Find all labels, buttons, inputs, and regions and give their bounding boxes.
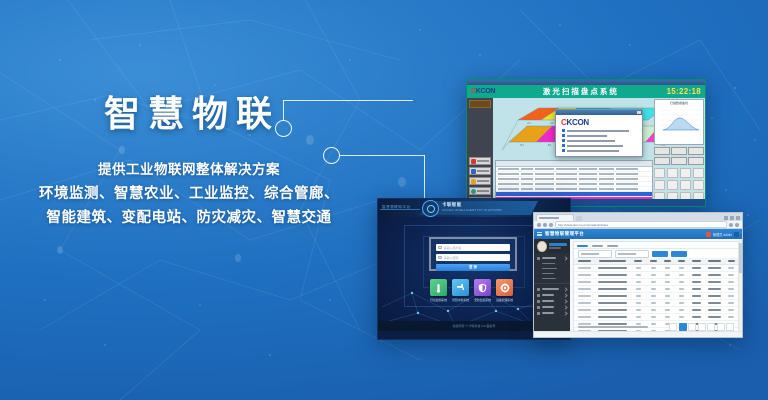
table-row[interactable] bbox=[574, 265, 738, 272]
url-input[interactable]: http://www.ckcon-iot.com/admin/index bbox=[555, 221, 727, 228]
avatar bbox=[537, 241, 547, 252]
chevron-down-icon bbox=[563, 311, 567, 315]
sidebar-subitem-device-status[interactable] bbox=[534, 276, 570, 281]
bullet-icon bbox=[562, 139, 565, 142]
scan-icon bbox=[471, 159, 476, 164]
url-text: http://www.ckcon-iot.com/admin/index bbox=[558, 223, 608, 227]
user-icon bbox=[537, 300, 540, 303]
callout-ring-upper bbox=[275, 120, 292, 137]
table-row[interactable] bbox=[574, 293, 738, 300]
grid-icon-2[interactable] bbox=[667, 168, 678, 178]
setting-icon bbox=[471, 179, 476, 184]
tile-water[interactable]: 智慧水务系统 bbox=[452, 279, 469, 302]
login-badge bbox=[422, 200, 439, 217]
pagination-bar[interactable] bbox=[574, 323, 738, 330]
minimize-icon[interactable] bbox=[724, 216, 728, 220]
back-icon[interactable] bbox=[537, 223, 541, 227]
callout-line-upper-horizontal bbox=[283, 100, 413, 101]
scan-app-sidebar-button-setting[interactable] bbox=[469, 177, 491, 185]
username-field[interactable]: 请输入用户名 bbox=[436, 244, 510, 251]
table-row[interactable] bbox=[574, 300, 738, 307]
svg-text:B1: B1 bbox=[520, 143, 524, 147]
tile-water-square[interactable] bbox=[452, 279, 469, 296]
chevron-down-icon bbox=[563, 256, 567, 260]
browser-viewport: 智慧物联管理平台 管理员 admin bbox=[534, 229, 742, 335]
login-form[interactable]: 请输入用户名 请输入密码 登 录 bbox=[429, 237, 517, 271]
bullet-icon bbox=[562, 129, 565, 132]
user-icon bbox=[438, 246, 442, 250]
tile-device-caption: 设备管理系统 bbox=[496, 298, 513, 302]
callout-line-lower-horizontal bbox=[340, 155, 425, 156]
control-button[interactable] bbox=[654, 157, 670, 165]
lock-icon bbox=[438, 256, 442, 260]
pagination-info bbox=[578, 326, 648, 328]
date-input[interactable] bbox=[615, 250, 649, 258]
password-field[interactable]: 请输入密码 bbox=[436, 254, 510, 261]
page-next[interactable] bbox=[726, 323, 734, 331]
tile-device[interactable]: 设备管理系统 bbox=[496, 279, 513, 302]
app-content bbox=[570, 229, 742, 335]
grid-icon-7[interactable] bbox=[680, 180, 691, 190]
page-prev[interactable] bbox=[669, 323, 677, 331]
tile-environment[interactable]: 环境监测系统 bbox=[430, 279, 447, 302]
browser-tab-active[interactable] bbox=[536, 214, 574, 221]
about-dialog-logo: CKCON bbox=[556, 115, 642, 129]
app-header: 智慧物联管理平台 管理员 admin bbox=[534, 229, 742, 239]
grid-icon-1[interactable] bbox=[654, 168, 665, 178]
scan-app-chart: 扫描数据曲线 bbox=[654, 99, 704, 145]
shield-icon bbox=[478, 283, 487, 293]
bookmark-icon[interactable] bbox=[729, 223, 733, 227]
hero-copy: 智慧物联 提供工业物联网整体解决方案 环境监测、智慧农业、工业监控、综合管廊、 … bbox=[0, 96, 378, 230]
reset-button[interactable] bbox=[671, 251, 687, 257]
gear-icon bbox=[500, 283, 510, 293]
scan-app-sidebar-spacer bbox=[467, 108, 493, 156]
tile-security-square[interactable] bbox=[474, 279, 491, 296]
scan-app-sidebar[interactable] bbox=[467, 98, 493, 206]
device-icon bbox=[537, 257, 540, 260]
scan-app-control-panel[interactable]: 扫描数据曲线 bbox=[654, 99, 704, 205]
banner-stage: 智慧物联 提供工业物联网整体解决方案 环境监测、智慧农业、工业监控、综合管廊、 … bbox=[0, 0, 768, 400]
hero-sub-line-3: 智能建筑、变配电站、防灾减灾、智慧交通 bbox=[0, 206, 378, 230]
svg-text:B2: B2 bbox=[548, 143, 552, 147]
table-row[interactable] bbox=[574, 314, 738, 321]
scan-app-control-buttons[interactable] bbox=[654, 147, 704, 165]
about-dialog[interactable]: CKCON bbox=[555, 109, 643, 157]
sidebar-group-device[interactable] bbox=[534, 255, 570, 281]
tab-online-device[interactable] bbox=[592, 243, 603, 248]
admin-browser-window[interactable]: http://www.ckcon-iot.com/admin/index 智慧物… bbox=[533, 212, 743, 338]
scan-app-icon-grid[interactable] bbox=[654, 168, 704, 202]
page-1[interactable] bbox=[679, 323, 687, 331]
menu-toggle-icon[interactable] bbox=[537, 232, 542, 236]
callout-ring-lower bbox=[323, 147, 340, 164]
tile-device-square[interactable] bbox=[496, 279, 513, 296]
sidebar-user-tag bbox=[549, 243, 567, 246]
tab-device-list[interactable] bbox=[577, 243, 588, 248]
page-3[interactable] bbox=[698, 323, 706, 331]
username-placeholder: 请输入用户名 bbox=[444, 246, 462, 250]
control-button[interactable] bbox=[671, 147, 687, 155]
tile-security[interactable]: 安防监控系统 bbox=[474, 279, 491, 302]
tile-security-caption: 安防监控系统 bbox=[474, 298, 491, 302]
browser-tabstrip[interactable] bbox=[534, 213, 742, 221]
page-5[interactable] bbox=[717, 323, 725, 331]
page-4[interactable] bbox=[707, 323, 715, 331]
window-controls[interactable] bbox=[724, 216, 740, 221]
sidebar-divider bbox=[534, 283, 570, 284]
svg-text:A1: A1 bbox=[527, 121, 531, 125]
callout-line-upper-vertical bbox=[283, 100, 284, 121]
scrollbar-thumb[interactable] bbox=[739, 243, 742, 273]
app-header-right[interactable]: 管理员 admin bbox=[706, 232, 739, 237]
browser-addressbar[interactable]: http://www.ckcon-iot.com/admin/index bbox=[534, 221, 742, 229]
table-row[interactable] bbox=[574, 286, 738, 293]
alarm-icon bbox=[537, 294, 540, 297]
scan-chart-plot bbox=[655, 105, 703, 135]
gear-icon bbox=[537, 306, 540, 309]
scan-app-header: CKCON 激光扫描盘点系统 15:22:18 bbox=[467, 85, 705, 98]
bullet-icon bbox=[562, 149, 565, 152]
tab-offline-device[interactable] bbox=[607, 243, 618, 248]
maximize-icon[interactable] bbox=[730, 216, 734, 220]
page-2[interactable] bbox=[688, 323, 696, 331]
control-button[interactable] bbox=[688, 147, 704, 155]
page-title: 智慧物联 bbox=[6, 96, 378, 132]
callout-line-lower-vertical bbox=[424, 155, 425, 201]
menu-icon[interactable] bbox=[735, 223, 739, 227]
scan-app-clock: 15:22:18 bbox=[667, 87, 701, 96]
forward-icon[interactable] bbox=[543, 223, 547, 227]
faucet-icon bbox=[456, 283, 466, 292]
close-icon[interactable] bbox=[637, 111, 641, 114]
hero-sub-line-2: 环境监测、智慧农业、工业监控、综合管廊、 bbox=[0, 182, 378, 206]
hero-subtext: 提供工业物联网整体解决方案 环境监测、智慧农业、工业监控、综合管廊、 智能建筑、… bbox=[0, 158, 378, 230]
tile-water-caption: 智慧水务系统 bbox=[452, 298, 469, 302]
scan-app-sidebar-banner bbox=[469, 100, 491, 108]
gear-icon bbox=[427, 205, 435, 213]
reload-icon[interactable] bbox=[549, 223, 553, 227]
scan-app-title: 激光扫描盘点系统 bbox=[495, 86, 666, 97]
table-row[interactable] bbox=[574, 272, 738, 279]
hero-sub-line-1: 提供工业物联网整体解决方案 bbox=[0, 158, 378, 182]
sidebar-item-logs[interactable] bbox=[534, 310, 570, 316]
grid-icon-5[interactable] bbox=[654, 180, 665, 190]
control-button[interactable] bbox=[671, 157, 687, 165]
login-module-tiles[interactable]: 环境监测系统 智慧水务系统 bbox=[430, 279, 513, 302]
grid-icon-8[interactable] bbox=[693, 180, 704, 190]
content-tabs[interactable] bbox=[574, 242, 738, 249]
report-icon bbox=[471, 169, 476, 174]
grid-icon-3[interactable] bbox=[680, 168, 691, 178]
scan-app-logo: CKCON bbox=[471, 88, 495, 95]
device-icon bbox=[471, 189, 476, 194]
scan-app-main-view[interactable]: A1A2 A3A4 B1B2 B3B4B5 bbox=[493, 98, 705, 206]
pagination-pages[interactable] bbox=[669, 323, 734, 331]
chevron-down-icon bbox=[563, 305, 567, 309]
scan-app-body: A1A2 A3A4 B1B2 B3B4B5 bbox=[467, 98, 705, 206]
device-list-card bbox=[573, 241, 739, 332]
tile-environment-caption: 环境监测系统 bbox=[430, 298, 447, 302]
chevron-down-icon bbox=[563, 287, 567, 291]
scan-app-sidebar-button-report[interactable] bbox=[469, 167, 491, 175]
filter-bar[interactable] bbox=[574, 249, 738, 258]
control-button[interactable] bbox=[688, 157, 704, 165]
search-button[interactable] bbox=[652, 251, 668, 257]
laser-scan-app-window[interactable]: CKCON 激光扫描盘点系统 15:22:18 bbox=[466, 79, 706, 207]
password-placeholder: 请输入密码 bbox=[444, 256, 459, 260]
user-name: 管理员 admin bbox=[713, 232, 732, 237]
svg-text:A2: A2 bbox=[550, 121, 554, 125]
tile-environment-square[interactable] bbox=[430, 279, 447, 296]
browser-statusbar bbox=[534, 331, 742, 337]
app-title: 智慧物联管理平台 bbox=[545, 231, 584, 237]
sidebar-user-card bbox=[534, 239, 570, 253]
app-sidebar[interactable] bbox=[534, 229, 570, 335]
table-row[interactable] bbox=[574, 279, 738, 286]
grid-icon-4[interactable] bbox=[693, 168, 704, 178]
control-button[interactable] bbox=[654, 147, 670, 155]
logout-icon[interactable] bbox=[734, 232, 739, 237]
log-icon bbox=[537, 312, 540, 315]
login-left-label: 智慧物联网平台 bbox=[382, 205, 411, 210]
browser-tab-title bbox=[539, 217, 559, 219]
bullet-icon bbox=[562, 144, 565, 147]
scan-app-sidebar-button-scan[interactable] bbox=[469, 157, 491, 165]
keyword-input[interactable] bbox=[578, 250, 612, 258]
thermometer-icon bbox=[434, 283, 443, 293]
avatar bbox=[706, 232, 711, 237]
grid-icon-6[interactable] bbox=[667, 180, 678, 190]
scan-app-sidebar-button-device[interactable] bbox=[469, 187, 491, 195]
bullet-icon bbox=[562, 134, 565, 137]
chart-icon bbox=[537, 288, 540, 291]
login-submit-button[interactable]: 登 录 bbox=[436, 264, 510, 271]
login-ribbon-subtitle: CKCON INTELLIGENT IOT PLATFORM bbox=[442, 208, 502, 212]
table-row[interactable] bbox=[574, 307, 738, 314]
chevron-down-icon bbox=[563, 299, 567, 303]
close-icon[interactable] bbox=[736, 216, 740, 220]
chevron-down-icon bbox=[563, 293, 567, 297]
